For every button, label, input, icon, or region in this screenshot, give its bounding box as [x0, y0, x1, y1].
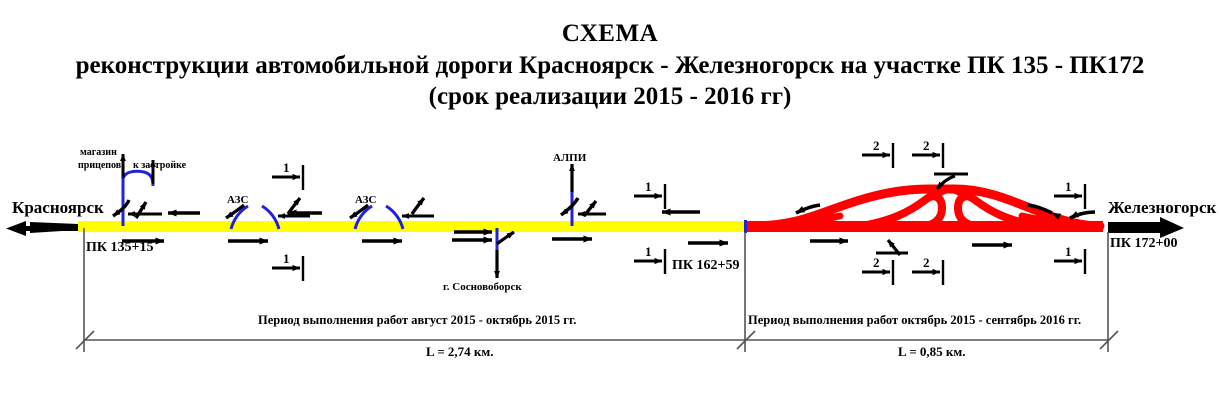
label-krasnoyarsk: Красноярск — [12, 198, 104, 218]
road-scheme-diagram — [0, 0, 1220, 419]
label-pk-172: ПК 172+00 — [1110, 236, 1178, 252]
lane-marker-bottom-1: 1 — [283, 251, 290, 267]
krasnoyarsk-direction-arrow — [6, 221, 78, 236]
label-magazin-pricepov-line2: прицепов — [78, 160, 121, 171]
lane-marker-bottom-2: 1 — [645, 244, 652, 260]
length-label-east: L = 0,85 км. — [898, 344, 965, 360]
branch-alpi — [561, 164, 606, 226]
lane-marker-top-3: 2 — [873, 138, 880, 154]
label-alpi: АЛПИ — [553, 152, 586, 164]
boundary-marker-pk162 — [744, 220, 747, 233]
label-pk-162: ПК 162+59 — [672, 258, 740, 274]
label-sosnovoborsk: г. Сосновоборск — [443, 281, 522, 293]
lane-marker-top-1: 1 — [283, 160, 290, 176]
dimension-lines — [76, 228, 1118, 352]
length-label-west: L = 2,74 км. — [426, 344, 493, 360]
lane-marker-top-4: 2 — [923, 138, 930, 154]
label-magazin-pricepov-line1: магазин — [80, 147, 117, 158]
label-azs-1: АЗС — [227, 194, 248, 206]
zheleznogorsk-direction-arrow — [1108, 217, 1184, 238]
period-label-east: Период выполнения работ октябрь 2015 - с… — [748, 313, 1081, 328]
label-pk-135: ПК 135+15 — [86, 240, 154, 256]
period-label-west: Период выполнения работ август 2015 - ок… — [258, 313, 576, 328]
branch-sosnovoborsk — [497, 228, 514, 278]
lane-marker-bottom-3: 2 — [873, 255, 880, 271]
schema-page: СХЕМА реконструкции автомобильной дороги… — [0, 0, 1220, 419]
label-k-zastroyke: к застройке — [133, 160, 186, 171]
label-azs-2: АЗС — [355, 194, 376, 206]
lane-marker-bottom-5: 1 — [1065, 244, 1072, 260]
road-existing-yellow — [78, 221, 745, 232]
lane-marker-top-2: 1 — [645, 179, 652, 195]
lane-marker-top-5: 1 — [1065, 179, 1072, 195]
lane-marker-bottom-4: 2 — [923, 255, 930, 271]
label-zheleznogorsk: Железногорск — [1108, 198, 1216, 218]
